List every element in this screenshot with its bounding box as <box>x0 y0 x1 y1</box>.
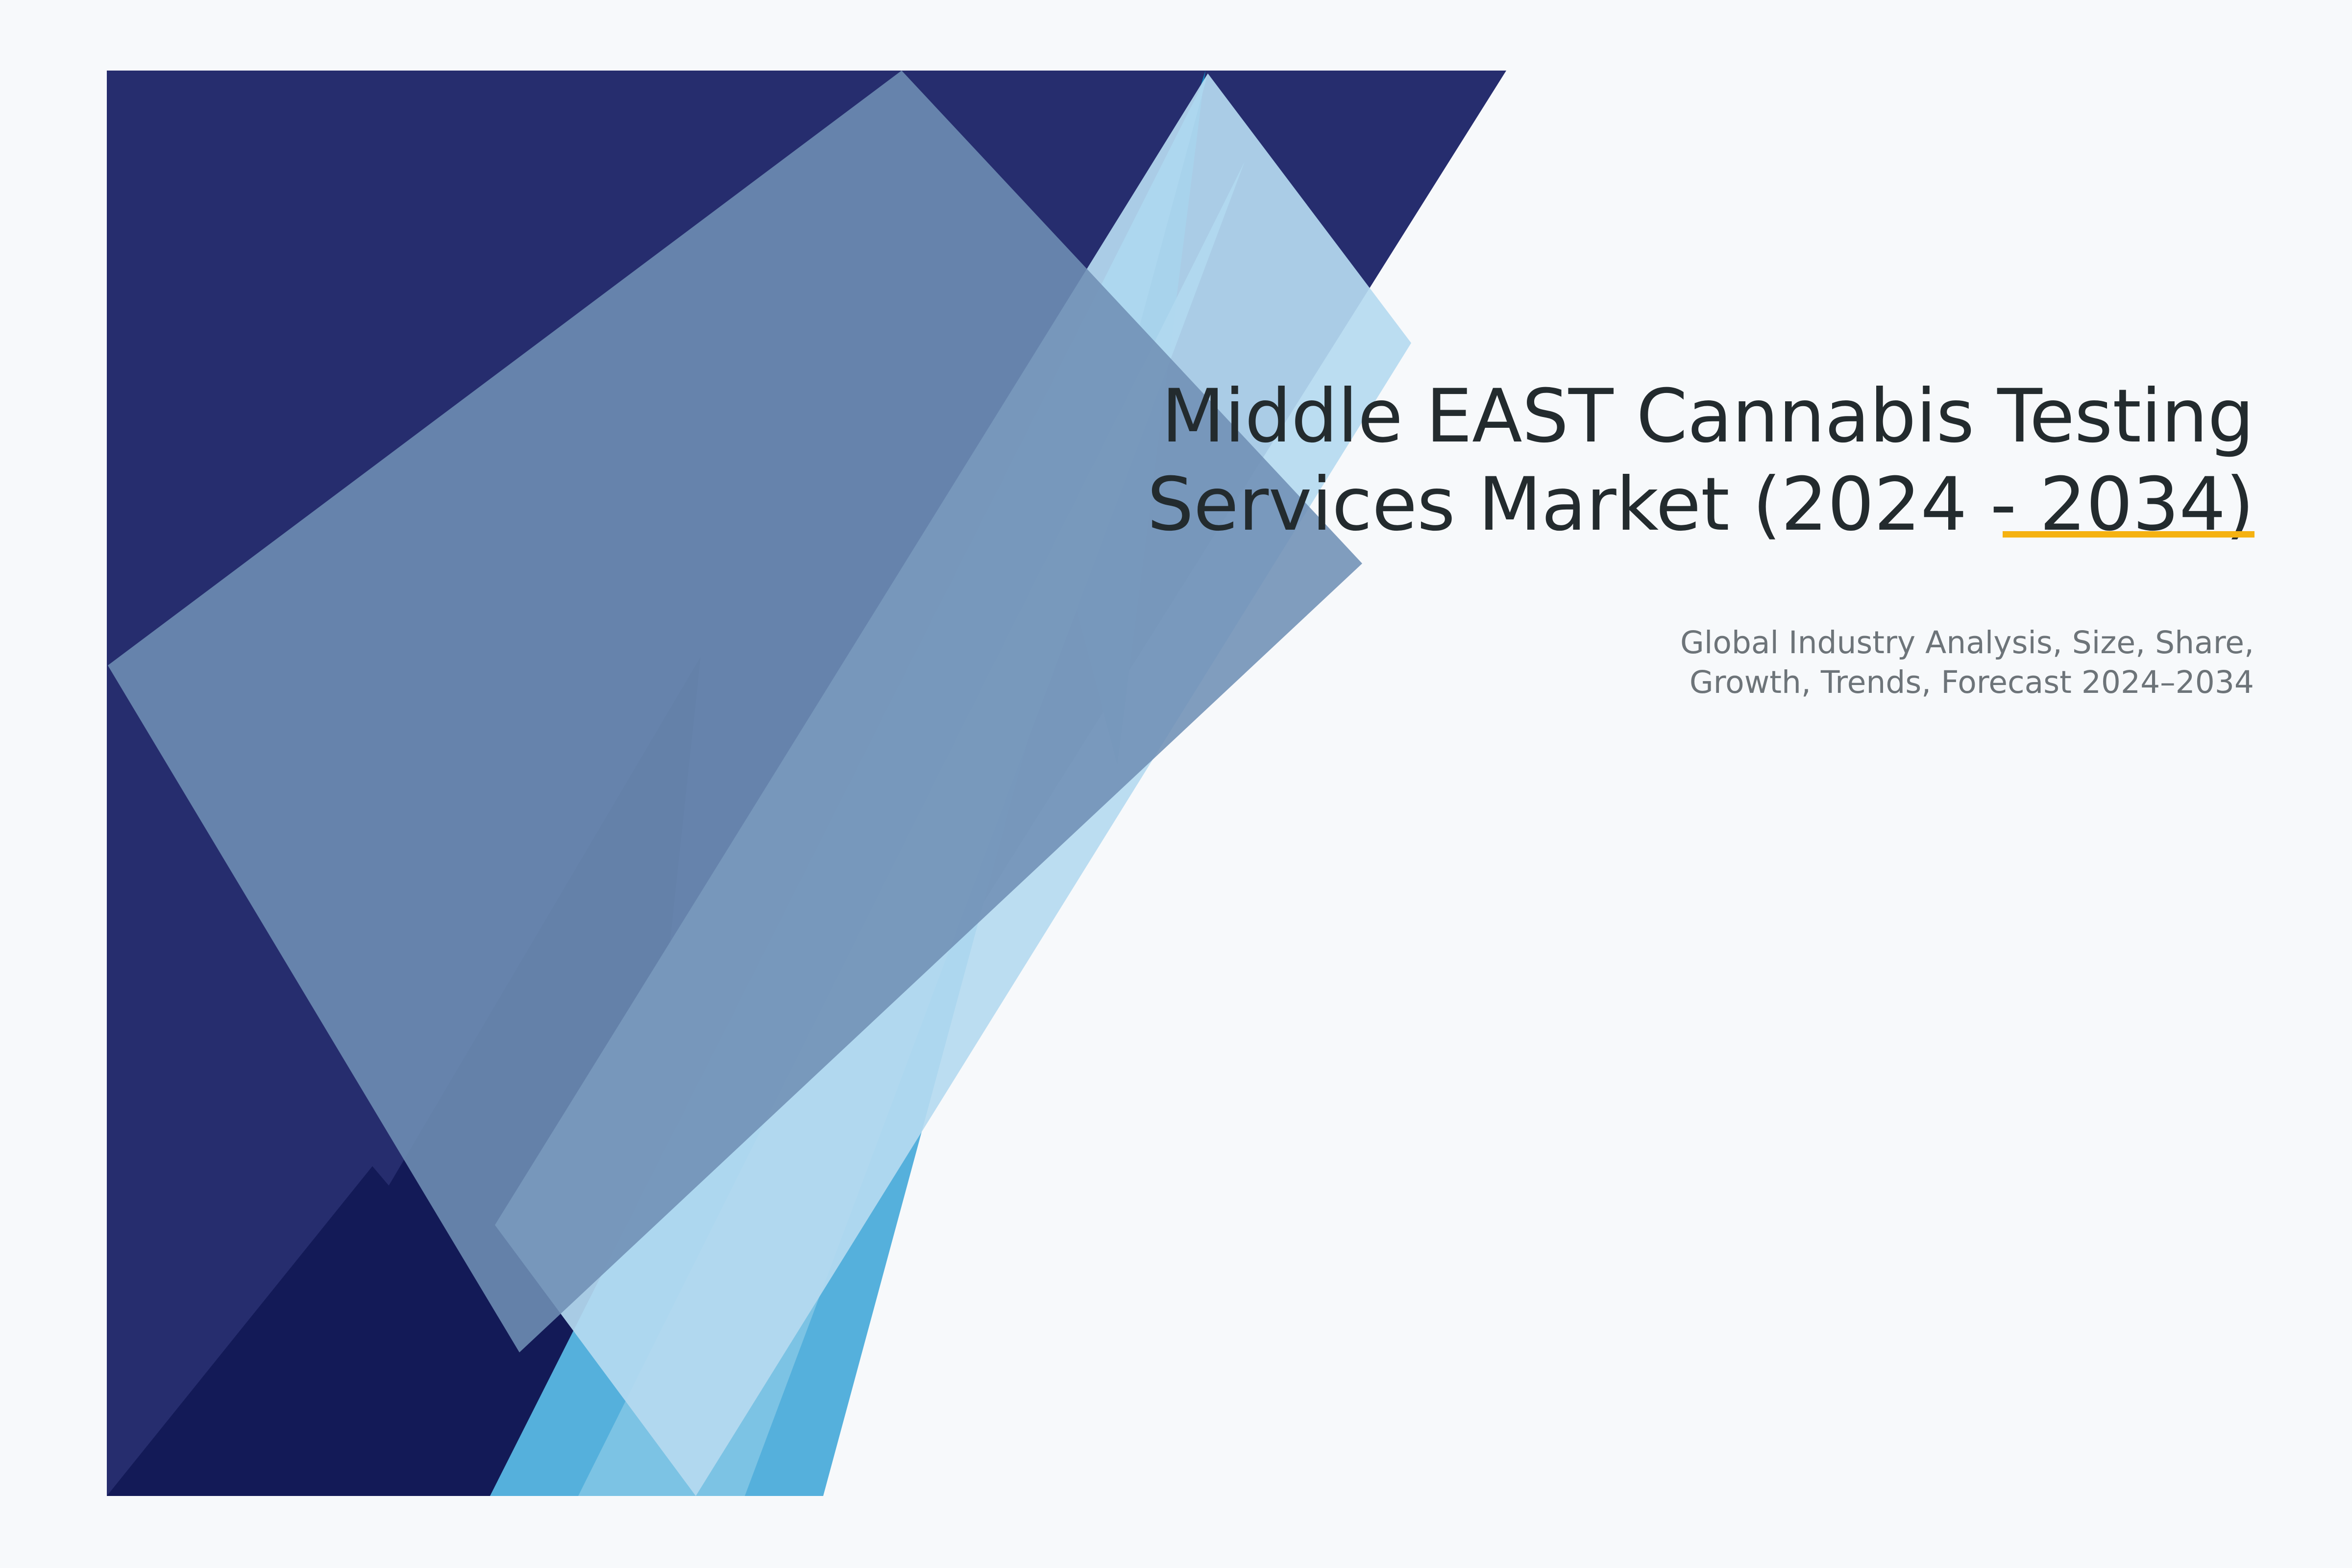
title-underline-rule <box>2003 531 2254 538</box>
page-subtitle: Global Industry Analysis, Size, Share, G… <box>1078 549 2254 702</box>
abstract-geometric-cover-graphic <box>0 0 2352 1568</box>
report-cover-page: Middle EAST Cannabis Testing Services Ma… <box>0 0 2352 1568</box>
page-title: Middle EAST Cannabis Testing Services Ma… <box>1078 372 2254 549</box>
